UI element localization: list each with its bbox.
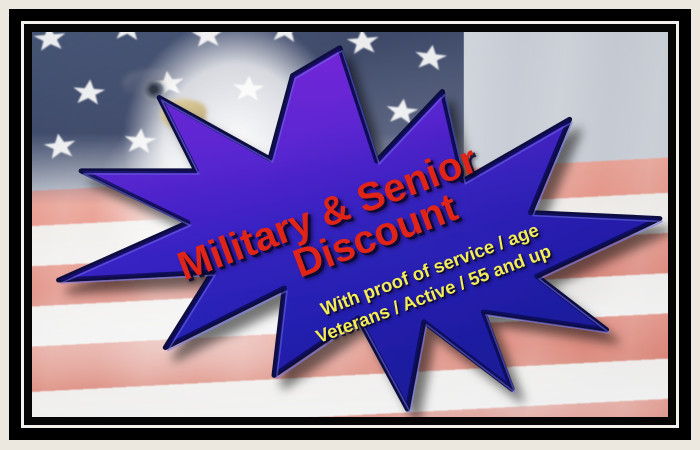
bald-eagle-head: [51, 32, 407, 332]
eagle-beak: [157, 95, 208, 134]
poster-root: Military & Senior Discount With proof of…: [0, 0, 700, 450]
frame-inner-black-border: Military & Senior Discount With proof of…: [24, 24, 676, 425]
eagle-eye: [145, 81, 164, 100]
background-photo: Military & Senior Discount With proof of…: [32, 32, 668, 417]
frame-white-inner-line: Military & Senior Discount With proof of…: [21, 21, 679, 428]
frame-outer-black-border: Military & Senior Discount With proof of…: [9, 9, 691, 440]
